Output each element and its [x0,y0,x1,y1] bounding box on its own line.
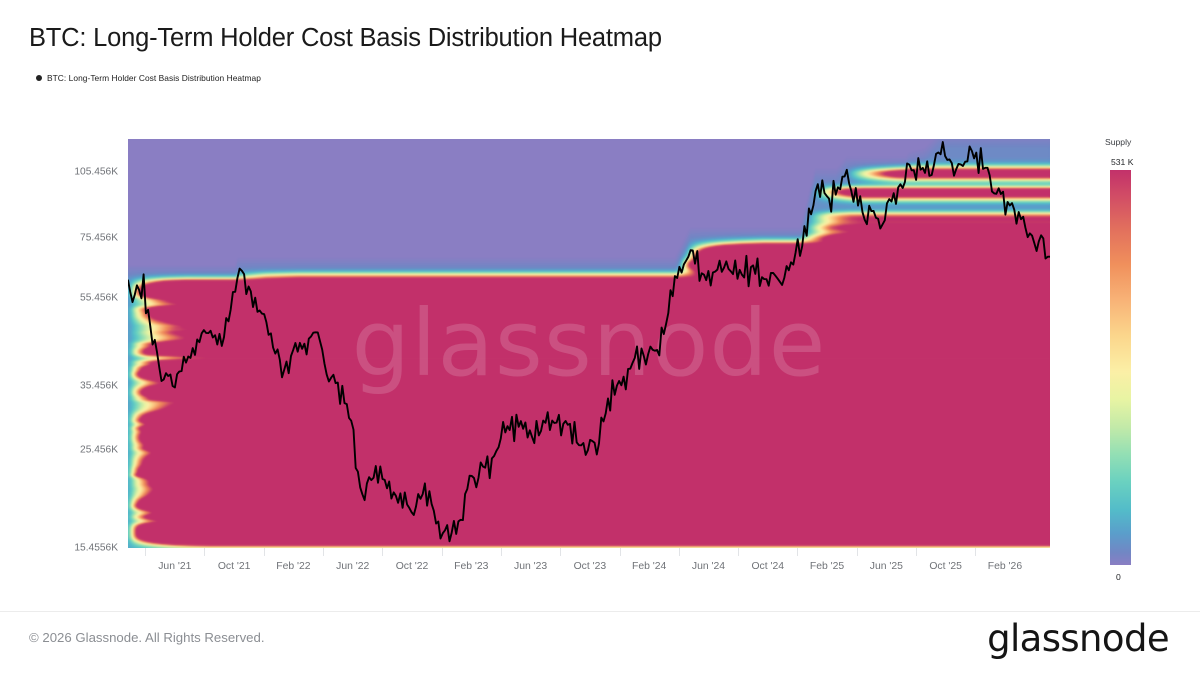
x-axis-tick-mark [442,548,443,556]
x-axis-tick-mark [620,548,621,556]
y-axis-tick-label: 55.456K [80,293,118,304]
x-axis-tick-mark [145,548,146,556]
y-axis-tick-label: 105.456K [74,167,118,178]
x-axis-tick-label: Jun '24 [692,561,725,572]
colorbar-legend[interactable]: Supply 531 K 0 [1105,137,1200,582]
colorbar-min-label: 0 [1116,572,1200,582]
glassnode-logo: glassnode [987,617,1169,660]
footer-divider [0,611,1200,612]
y-axis-tick-label: 75.456K [80,232,118,243]
x-axis-tick-mark [323,548,324,556]
copyright-text: © 2026 Glassnode. All Rights Reserved. [29,630,265,645]
x-axis-tick-mark [738,548,739,556]
y-axis-tick-label: 35.456K [80,380,118,391]
x-axis-tick-mark [975,548,976,556]
x-axis-tick-label: Feb '25 [810,561,844,572]
x-axis-tick-mark [204,548,205,556]
x-axis-tick-label: Feb '26 [988,561,1022,572]
x-axis-tick-mark [560,548,561,556]
x-axis-tick-label: Jun '23 [514,561,547,572]
y-axis-tick-label: 15.4556K [74,543,118,554]
x-axis-tick-mark [679,548,680,556]
series-legend-label: BTC: Long-Term Holder Cost Basis Distrib… [47,73,261,83]
x-axis-tick-label: Jun '21 [158,561,191,572]
x-axis-tick-label: Feb '24 [632,561,666,572]
x-axis-tick-label: Oct '21 [218,561,251,572]
heatmap-plot-area[interactable]: glassnode [128,139,1050,548]
series-marker-icon [36,75,42,81]
x-axis-tick-label: Jun '22 [336,561,369,572]
y-axis-tick-label: 25.456K [80,445,118,456]
x-axis-tick-label: Feb '23 [454,561,488,572]
x-axis-tick-mark [382,548,383,556]
x-axis-tick-label: Feb '22 [276,561,310,572]
x-axis-tick-label: Oct '25 [929,561,962,572]
x-axis-tick-mark [857,548,858,556]
x-axis-tick-mark [501,548,502,556]
colorbar-max-label: 531 K [1111,157,1200,167]
x-axis-tick-mark [916,548,917,556]
x-axis-tick-mark [264,548,265,556]
colorbar-title: Supply [1105,137,1200,147]
price-line-path [128,142,1050,541]
x-axis-tick-label: Jun '25 [870,561,903,572]
x-axis-tick-label: Oct '23 [574,561,607,572]
x-axis-tick-mark [797,548,798,556]
page-title: BTC: Long-Term Holder Cost Basis Distrib… [29,24,662,53]
colorbar-gradient [1110,170,1131,565]
price-line-series [128,139,1050,548]
x-axis-tick-label: Oct '22 [396,561,429,572]
x-axis-tick-label: Oct '24 [751,561,784,572]
series-legend[interactable]: BTC: Long-Term Holder Cost Basis Distrib… [36,73,261,83]
